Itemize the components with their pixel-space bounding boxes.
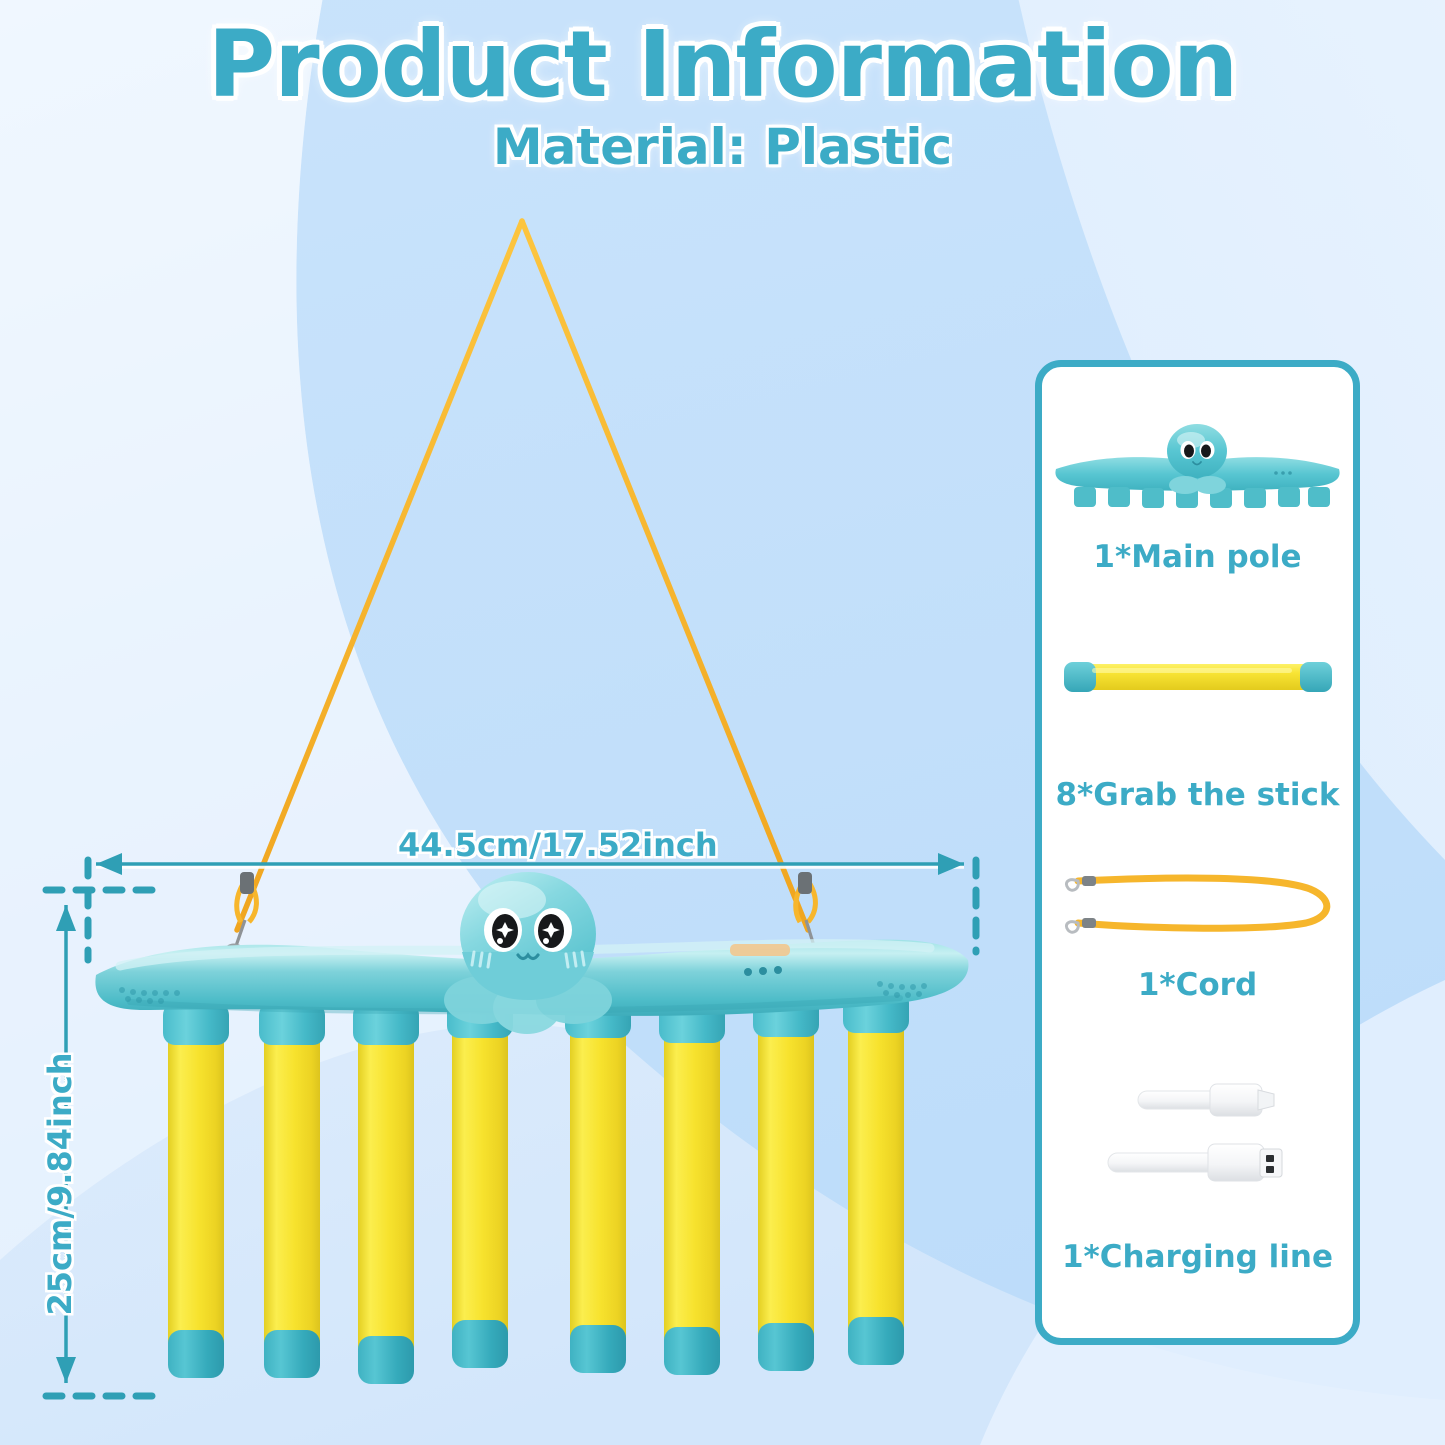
micro-usb-connector xyxy=(1138,1084,1274,1116)
part-label-cord: 1*Cord xyxy=(1042,967,1353,1003)
part-label-main-pole: 1*Main pole xyxy=(1042,539,1353,575)
lanyard-cord-icon xyxy=(1042,857,1353,947)
grab-stick-icon xyxy=(1042,649,1353,705)
part-label-charging-line: 1*Charging line xyxy=(1042,1239,1353,1275)
page-subtitle: Material: Plastic xyxy=(0,118,1445,176)
page-title: Product Information xyxy=(0,18,1445,112)
width-dimension-label: 44.5cm/17.52inch xyxy=(398,826,718,864)
parts-list-panel: 1*Main pole 8*Grab the stick xyxy=(1035,360,1360,1345)
octopus-main-pole-icon xyxy=(1042,407,1353,527)
part-label-grab-stick: 8*Grab the stick xyxy=(1042,777,1353,813)
header: Product Information Material: Plastic xyxy=(0,18,1445,176)
usb-a-connector xyxy=(1108,1144,1282,1181)
height-dimension-label: 25cm/9.84inch xyxy=(41,1034,79,1334)
usb-charging-cable-icon xyxy=(1042,1057,1353,1227)
dimension-dashes xyxy=(46,860,976,1396)
